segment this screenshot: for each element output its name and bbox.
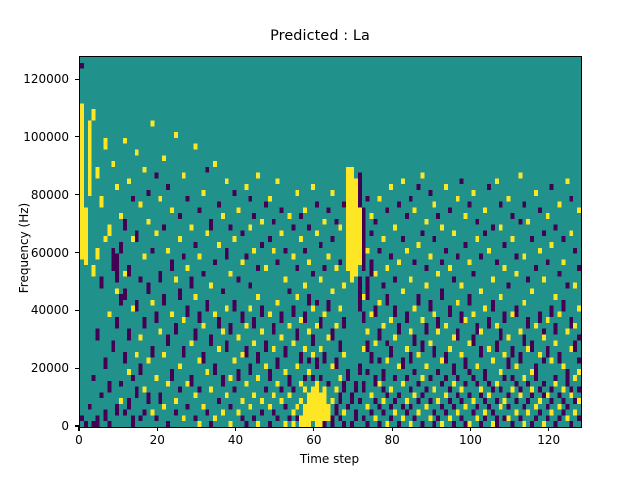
x-tick-label: 80 bbox=[384, 433, 399, 447]
chart-title: Predicted : La bbox=[0, 28, 640, 44]
heatmap-image bbox=[80, 57, 581, 427]
x-tick-mark bbox=[548, 427, 549, 431]
y-tick-label: 20000 bbox=[0, 361, 69, 375]
x-tick-mark bbox=[157, 427, 158, 431]
y-tick-label: 80000 bbox=[0, 188, 69, 202]
y-tick-mark bbox=[75, 310, 79, 311]
y-tick-mark bbox=[75, 79, 79, 80]
y-tick-label: 60000 bbox=[0, 246, 69, 260]
y-tick-mark bbox=[75, 136, 79, 137]
x-tick-mark bbox=[235, 427, 236, 431]
y-tick-label: 0 bbox=[0, 419, 69, 433]
x-tick-label: 0 bbox=[75, 433, 83, 447]
y-tick-label: 40000 bbox=[0, 303, 69, 317]
y-tick-mark bbox=[75, 194, 79, 195]
x-tick-label: 120 bbox=[537, 433, 560, 447]
x-axis-label: Time step bbox=[79, 452, 580, 466]
y-axis-label: Frequency (Hz) bbox=[17, 148, 31, 348]
x-tick-label: 100 bbox=[459, 433, 482, 447]
x-tick-mark bbox=[313, 427, 314, 431]
x-tick-label: 20 bbox=[150, 433, 165, 447]
x-tick-mark bbox=[78, 427, 79, 431]
y-tick-label: 120000 bbox=[0, 72, 69, 86]
x-tick-label: 40 bbox=[228, 433, 243, 447]
y-tick-mark bbox=[75, 368, 79, 369]
x-tick-label: 60 bbox=[306, 433, 321, 447]
y-tick-label: 100000 bbox=[0, 130, 69, 144]
matplotlib-figure: Predicted : La 0200004000060000800001000… bbox=[0, 0, 640, 480]
y-tick-mark bbox=[75, 252, 79, 253]
x-tick-mark bbox=[470, 427, 471, 431]
heatmap-plot-area bbox=[79, 56, 582, 428]
x-tick-mark bbox=[392, 427, 393, 431]
